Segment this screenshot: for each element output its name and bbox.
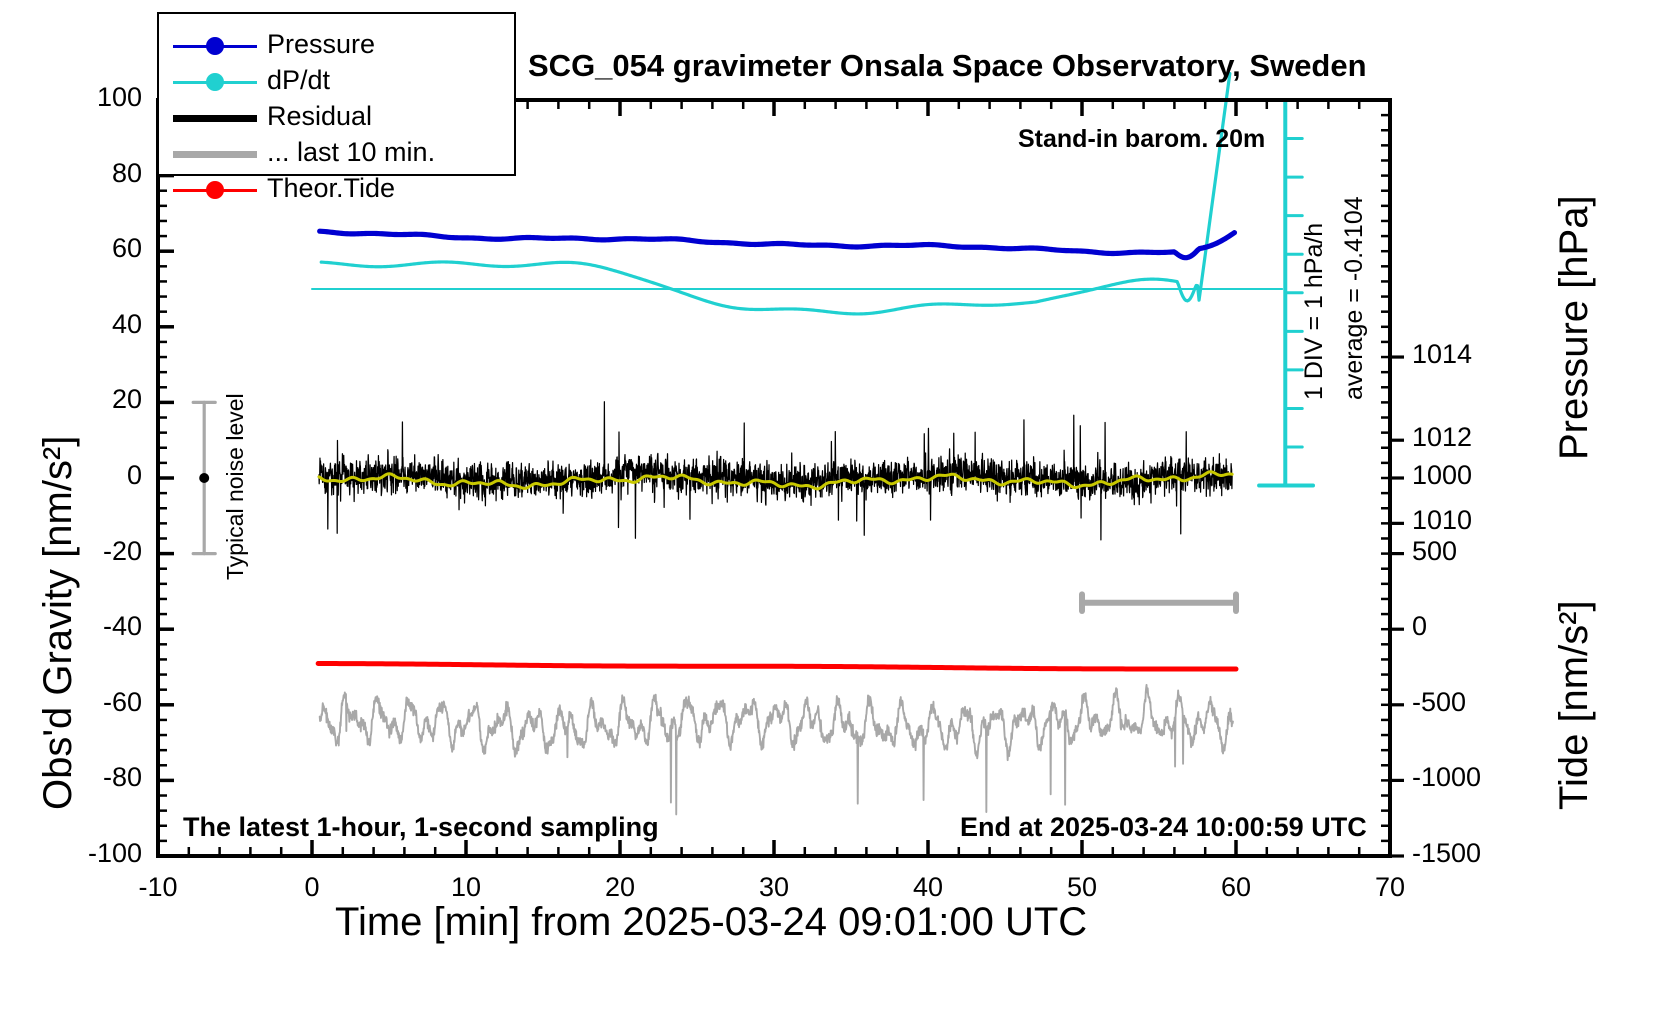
legend-swatch-icon: [173, 42, 257, 46]
x-tick-label: 60: [1221, 872, 1251, 903]
legend-item-label: Theor.Tide: [267, 173, 395, 204]
legend-item-label: Pressure: [267, 29, 375, 60]
y-tick-label-tide: 0: [1412, 611, 1427, 642]
y-tick-label-tide: 500: [1412, 536, 1457, 567]
average-label: average = -0.4104: [1340, 196, 1369, 400]
legend-item-last-10-min[interactable]: ... last 10 min.: [173, 134, 514, 170]
y-tick-label: -20: [103, 536, 142, 567]
y-tick-label-pressure: 1014: [1412, 339, 1472, 370]
x-tick-label: 10: [451, 872, 481, 903]
y-tick-label: 20: [112, 384, 142, 415]
y-tick-label: 80: [112, 158, 142, 189]
y-tick-label-tide: -500: [1412, 687, 1466, 718]
legend-swatch-icon: [173, 114, 257, 118]
y-axis-title-left: Obs'd Gravity [nm/s²]: [36, 436, 81, 810]
y-tick-label: 0: [127, 460, 142, 491]
y-axis-title-right-pressure: Pressure [hPa]: [1552, 195, 1597, 460]
legend-item-label: dP/dt: [267, 65, 330, 96]
legend-item-residual[interactable]: Residual: [173, 98, 514, 134]
legend-item-pressure[interactable]: Pressure: [173, 26, 514, 62]
y-tick-label: 100: [97, 82, 142, 113]
x-tick-label: 30: [759, 872, 789, 903]
y-tick-label-tide: 1000: [1412, 460, 1472, 491]
legend-item-label: ... last 10 min.: [267, 137, 435, 168]
y-tick-label-pressure: 1010: [1412, 505, 1472, 536]
legend-item-label: Residual: [267, 101, 372, 132]
chart-title: SCG_054 gravimeter Onsala Space Observat…: [528, 48, 1367, 84]
legend-item-theor-tide[interactable]: Theor.Tide: [173, 170, 514, 206]
legend-swatch-icon: [173, 150, 257, 154]
y-tick-label-pressure: 1012: [1412, 422, 1472, 453]
x-tick-label: 20: [605, 872, 635, 903]
x-tick-label: 70: [1375, 872, 1405, 903]
legend-swatch-icon: [173, 186, 257, 190]
x-axis-title: Time [min] from 2025-03-24 09:01:00 UTC: [335, 900, 1087, 945]
y-tick-label: -100: [88, 838, 142, 869]
legend-item-dp-dt[interactable]: dP/dt: [173, 62, 514, 98]
chart-root: SCG_054 gravimeter Onsala Space Observat…: [0, 0, 1660, 1020]
x-tick-label: 50: [1067, 872, 1097, 903]
legend-swatch-icon: [173, 78, 257, 82]
y-tick-label: -80: [103, 762, 142, 793]
y-tick-label: 60: [112, 233, 142, 264]
legend[interactable]: PressuredP/dtResidual... last 10 min.The…: [157, 12, 516, 176]
y-axis-title-right-tide: Tide [nm/s²]: [1552, 600, 1597, 810]
y-tick-label-tide: -1500: [1412, 838, 1481, 869]
div-scale-label: 1 DIV = 1 hPa/h: [1300, 223, 1329, 400]
x-tick-label: -10: [138, 872, 177, 903]
y-tick-label: 40: [112, 309, 142, 340]
standin-barometer-label: Stand-in barom. 20m: [1018, 125, 1265, 154]
x-tick-label: 0: [304, 872, 319, 903]
y-tick-label: -40: [103, 611, 142, 642]
footer-left-text: The latest 1-hour, 1-second sampling: [183, 812, 659, 843]
noise-level-label: Typical noise level: [222, 393, 249, 580]
y-tick-label: -60: [103, 687, 142, 718]
x-tick-label: 40: [913, 872, 943, 903]
y-tick-label-tide: -1000: [1412, 762, 1481, 793]
footer-right-text: End at 2025-03-24 10:00:59 UTC: [960, 812, 1367, 843]
